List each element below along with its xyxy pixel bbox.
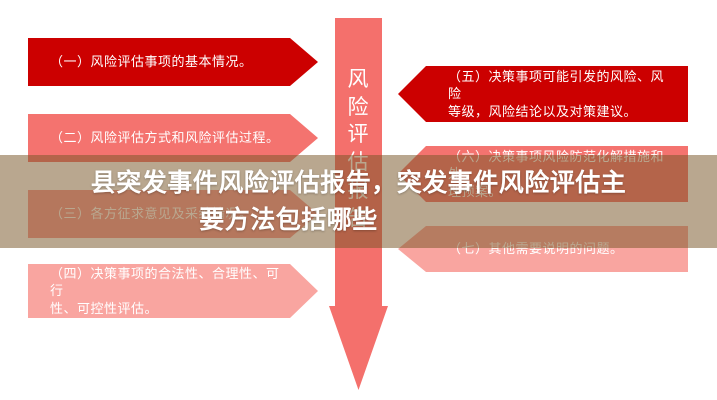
flow-item-1-label: （一）风险评估事项的基本情况。 <box>50 53 253 71</box>
center-char-1: 风 <box>329 66 388 94</box>
overlay-title-line-2: 要方法包括哪些 <box>199 202 518 238</box>
center-char-3: 评 <box>329 121 388 149</box>
flow-item-5: （五）决策事项可能引发的风险、风险 等级，风险结论以及对策建议。 <box>398 66 688 122</box>
flow-item-1: （一）风险评估事项的基本情况。 <box>28 38 318 86</box>
overlay-title: 县突发事件风险评估报告，突发事件风险评估主 要方法包括哪些 <box>0 155 717 248</box>
flow-item-5-label: （五）决策事项可能引发的风险、风险 等级，风险结论以及对策建议。 <box>448 68 674 121</box>
flow-item-4-label: （四）决策事项的合法性、合理性、可行 性、可控性评估。 <box>50 265 288 318</box>
overlay-title-line-1: 县突发事件风险评估报告，突发事件风险评估主 <box>91 165 627 201</box>
center-char-2: 险 <box>329 94 388 122</box>
flow-item-2-label: （二）风险评估方式和风险评估过程。 <box>50 129 280 147</box>
infographic-canvas: （一）风险评估事项的基本情况。 （二）风险评估方式和风险评估过程。 （三）各方征… <box>0 0 717 400</box>
flow-item-4: （四）决策事项的合法性、合理性、可行 性、可控性评估。 <box>28 264 318 318</box>
